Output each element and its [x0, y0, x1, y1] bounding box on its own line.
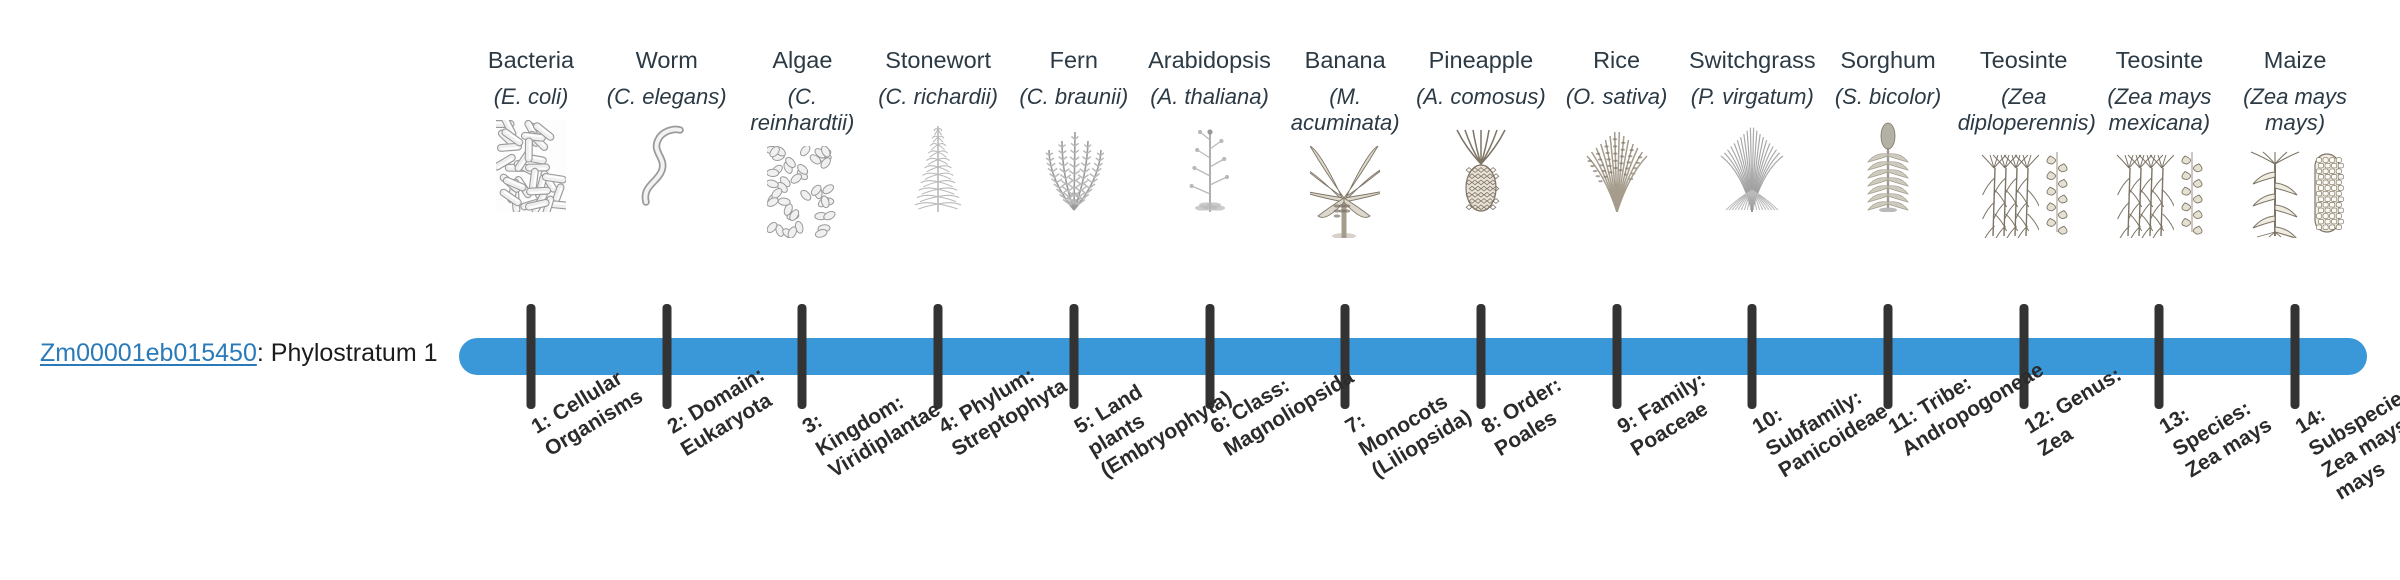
phylostratigraphy-track: Bacteria(E. coli)Worm(C. elegans)Algae(C… [0, 0, 2400, 580]
taxonomy-rank: Order: Poales [1491, 373, 1566, 460]
species-latin-name: (E. coli) [465, 84, 597, 110]
teosinte-diploperennis-illustration [1958, 142, 2090, 238]
tick-mark-13 [2155, 304, 2164, 409]
species-column-4: Stonewort(C. richardii) [872, 46, 1004, 212]
sorghum-illustration [1822, 116, 1954, 212]
tick-mark-8 [1476, 304, 1485, 409]
tick-mark-10 [1748, 304, 1757, 409]
species-column-11: Sorghum(S. bicolor) [1822, 46, 1954, 212]
taxonomy-label-7: 7: Monocots (Liliopsida) [1341, 357, 1482, 484]
tick-mark-14 [2291, 304, 2300, 409]
species-common-name: Bacteria [465, 46, 597, 75]
species-common-name: Teosinte [1958, 46, 2090, 75]
bacteria-illustration [465, 116, 597, 212]
taxonomy-rank: Land plants (Embryophyta) [1084, 380, 1236, 482]
tick-mark-1 [527, 304, 536, 409]
species-common-name: Fern [1008, 46, 1140, 75]
taxonomy-rank: Cellular Organisms [541, 367, 647, 461]
taxonomy-rank: Kingdom: Viridiplantae [812, 390, 945, 482]
species-column-1: Bacteria(E. coli) [465, 46, 597, 212]
tick-mark-3 [798, 304, 807, 409]
banana-illustration [1279, 142, 1411, 238]
taxonomy-label-3: 3: Kingdom: Viridiplantae [798, 357, 939, 484]
species-latin-name: (A. comosus) [1415, 84, 1547, 110]
taxonomy-rank: Domain: Eukaryota [676, 363, 775, 461]
species-latin-name: (Zea mays mays) [2229, 84, 2361, 136]
taxonomy-rank: Phylum: Streptophyta [948, 364, 1071, 461]
taxonomy-rank: Subfamily: Panicoideae [1762, 386, 1892, 483]
species-latin-name: (Zea mays mexicana) [2093, 84, 2225, 136]
species-common-name: Algae [736, 46, 868, 75]
taxonomy-rank: Monocots (Liliopsida) [1355, 390, 1476, 483]
stonewort-illustration [872, 116, 1004, 212]
tick-mark-9 [1612, 304, 1621, 409]
species-latin-name: (C. braunii) [1008, 84, 1140, 110]
species-column-13: Teosinte(Zea mays mexicana) [2093, 46, 2225, 238]
taxonomy-label-13: 13: Species: Zea mays [2155, 357, 2296, 484]
species-common-name: Rice [1551, 46, 1683, 75]
species-column-3: Algae(C. reinhardtii) [736, 46, 868, 238]
species-latin-name: (M. acuminata) [1279, 84, 1411, 136]
tick-mark-2 [662, 304, 671, 409]
taxonomy-rank: Subspecies: Zea mays mays [2305, 377, 2400, 504]
species-latin-name: (Zea diploperennis) [1958, 84, 2090, 136]
species-common-name: Arabidopsis [1144, 46, 1276, 75]
species-common-name: Stonewort [872, 46, 1004, 75]
taxonomy-rank: Class: Magnoliopsida [1219, 365, 1357, 460]
switchgrass-illustration [1686, 116, 1818, 212]
species-common-name: Pineapple [1415, 46, 1547, 75]
species-common-name: Sorghum [1822, 46, 1954, 75]
taxonomy-label-14: 14: Subspecies: Zea mays mays [2291, 357, 2400, 506]
species-latin-name: (C. reinhardtii) [736, 84, 868, 136]
worm-illustration [601, 116, 733, 212]
species-latin-name: (A. thaliana) [1144, 84, 1276, 110]
algae-illustration [736, 142, 868, 238]
rice-illustration [1551, 116, 1683, 212]
tick-mark-11 [1884, 304, 1893, 409]
species-column-7: Banana(M. acuminata) [1279, 46, 1411, 238]
species-latin-name: (C. elegans) [601, 84, 733, 110]
species-column-9: Rice(O. sativa) [1551, 46, 1683, 212]
species-common-name: Switchgrass [1686, 46, 1818, 75]
arabidopsis-illustration [1144, 116, 1276, 212]
species-common-name: Worm [601, 46, 733, 75]
species-common-name: Teosinte [2093, 46, 2225, 75]
species-column-10: Switchgrass(P. virgatum) [1686, 46, 1818, 212]
species-latin-name: (S. bicolor) [1822, 84, 1954, 110]
teosinte-mexicana-illustration [2093, 142, 2225, 238]
species-latin-name: (C. richardii) [872, 84, 1004, 110]
tick-mark-4 [934, 304, 943, 409]
species-column-5: Fern(C. braunii) [1008, 46, 1140, 212]
species-common-name: Banana [1279, 46, 1411, 75]
taxonomy-rank: Family: Poaceae [1626, 368, 1711, 460]
species-column-14: Maize(Zea mays mays) [2229, 46, 2361, 238]
species-column-2: Worm(C. elegans) [601, 46, 733, 212]
species-latin-name: (P. virgatum) [1686, 84, 1818, 110]
taxonomy-label-5: 5: Land plants (Embryophyta) [1070, 357, 1211, 484]
species-column-12: Teosinte(Zea diploperennis) [1958, 46, 2090, 238]
species-column-6: Arabidopsis(A. thaliana) [1144, 46, 1276, 212]
fern-illustration [1008, 116, 1140, 212]
taxonomy-label-10: 10: Subfamily: Panicoideae [1748, 357, 1889, 484]
species-column-8: Pineapple(A. comosus) [1415, 46, 1547, 212]
pineapple-illustration [1415, 116, 1547, 212]
species-common-name: Maize [2229, 46, 2361, 75]
maize-illustration [2229, 142, 2361, 238]
species-latin-name: (O. sativa) [1551, 84, 1683, 110]
